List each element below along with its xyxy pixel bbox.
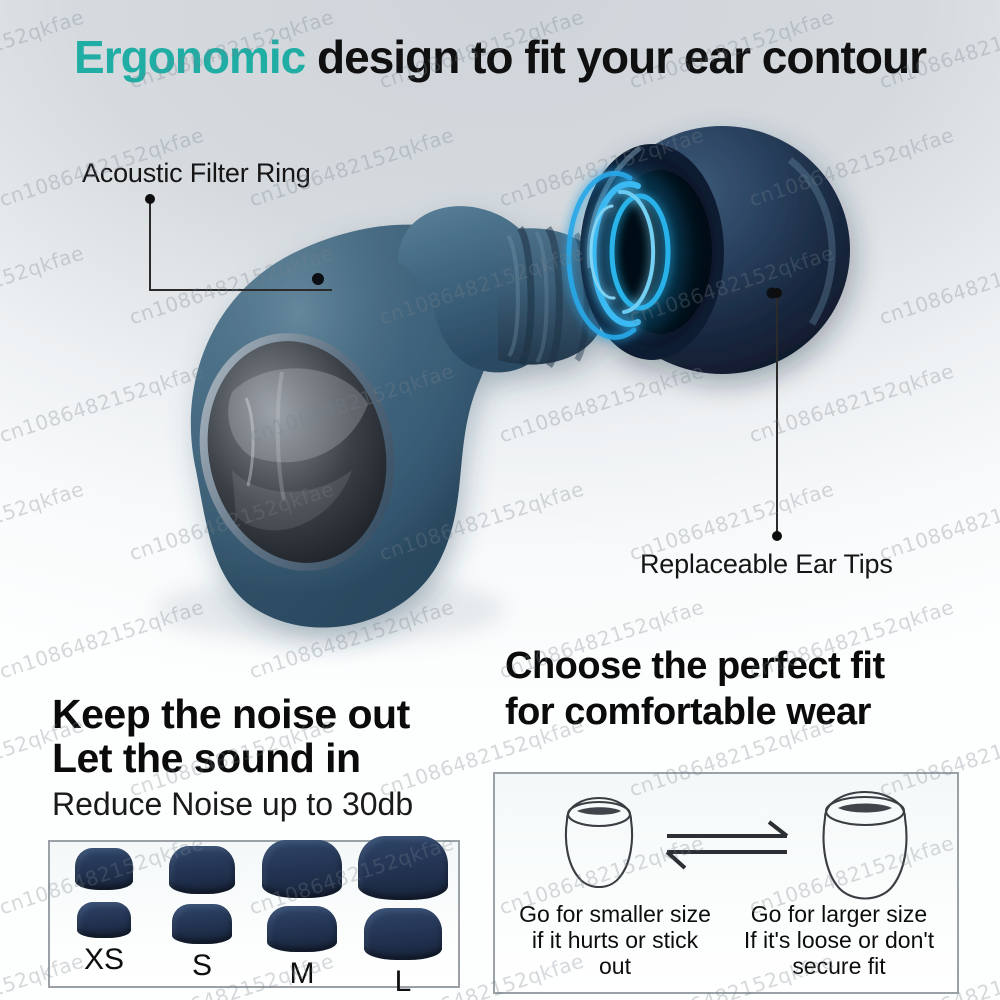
noise-heading-line1: Keep the noise out — [52, 691, 410, 738]
callout-label-acoustic-filter-ring: Acoustic Filter Ring — [82, 158, 311, 189]
arrow-right-head — [769, 822, 787, 836]
fit-caption-smaller-line2: if it hurts or stick — [503, 928, 727, 954]
arrow-left-head — [667, 852, 685, 868]
noise-heading-line2: Let the sound in — [52, 735, 361, 782]
leader-line-replaceable-ear-tips — [767, 288, 787, 544]
watermark-text: cn1086482152qkfae — [996, 831, 1000, 920]
line-art-ear-tip-small — [566, 798, 632, 887]
size-group-xs[interactable]: XS — [56, 848, 152, 977]
product-infographic: Ergonomic design to fit your ear contour… — [0, 0, 1000, 1000]
ear-tip-l-bottom — [364, 908, 442, 960]
size-label-m: M — [252, 957, 352, 991]
fit-caption-larger-line2: If it's loose or don't — [727, 928, 951, 954]
ear-tip-l-top — [358, 836, 448, 900]
size-group-m[interactable]: M — [252, 840, 352, 991]
fit-heading-line2: for comfortable wear — [505, 691, 871, 734]
ear-tip-size-panel: XS S M L — [48, 840, 460, 988]
fit-heading-line1: Choose the perfect fit — [505, 645, 885, 688]
noise-subheading: Reduce Noise up to 30db — [52, 786, 413, 823]
ear-tip-xs-bottom — [77, 902, 131, 938]
size-label-s: S — [154, 949, 250, 983]
fit-caption-larger-line1: Go for larger size — [727, 902, 951, 928]
ear-tip-s-top — [169, 846, 235, 894]
fit-guide-diagram — [495, 778, 957, 918]
size-group-s[interactable]: S — [154, 846, 250, 983]
headline-accent: Ergonomic — [74, 31, 305, 83]
ear-tip-xs-top — [75, 848, 133, 890]
equilibrium-arrows — [667, 822, 787, 868]
fit-caption-smaller-line1: Go for smaller size — [503, 902, 727, 928]
size-label-xs: XS — [56, 943, 152, 977]
headline-rest: design to fit your ear contour — [305, 31, 926, 83]
earbud-illustration — [0, 0, 1000, 700]
leader-line-acoustic-filter-ring — [140, 190, 340, 300]
fit-guide-caption-smaller: Go for smaller size if it hurts or stick… — [503, 902, 727, 979]
fit-guide-caption-larger: Go for larger size If it's loose or don'… — [727, 902, 951, 979]
size-label-l: L — [352, 965, 454, 999]
ear-tip-s-bottom — [172, 904, 232, 944]
fit-caption-smaller-line3: out — [503, 954, 727, 980]
ear-tip-m-bottom — [267, 906, 337, 952]
size-group-l[interactable]: L — [352, 836, 454, 999]
line-art-ear-tip-large — [824, 792, 907, 899]
fit-guide-panel: Go for smaller size if it hurts or stick… — [493, 772, 959, 994]
ear-tip-m-top — [262, 840, 342, 898]
page-title: Ergonomic design to fit your ear contour — [0, 30, 1000, 84]
fit-caption-larger-line3: secure fit — [727, 954, 951, 980]
callout-label-replaceable-ear-tips: Replaceable Ear Tips — [640, 549, 893, 580]
